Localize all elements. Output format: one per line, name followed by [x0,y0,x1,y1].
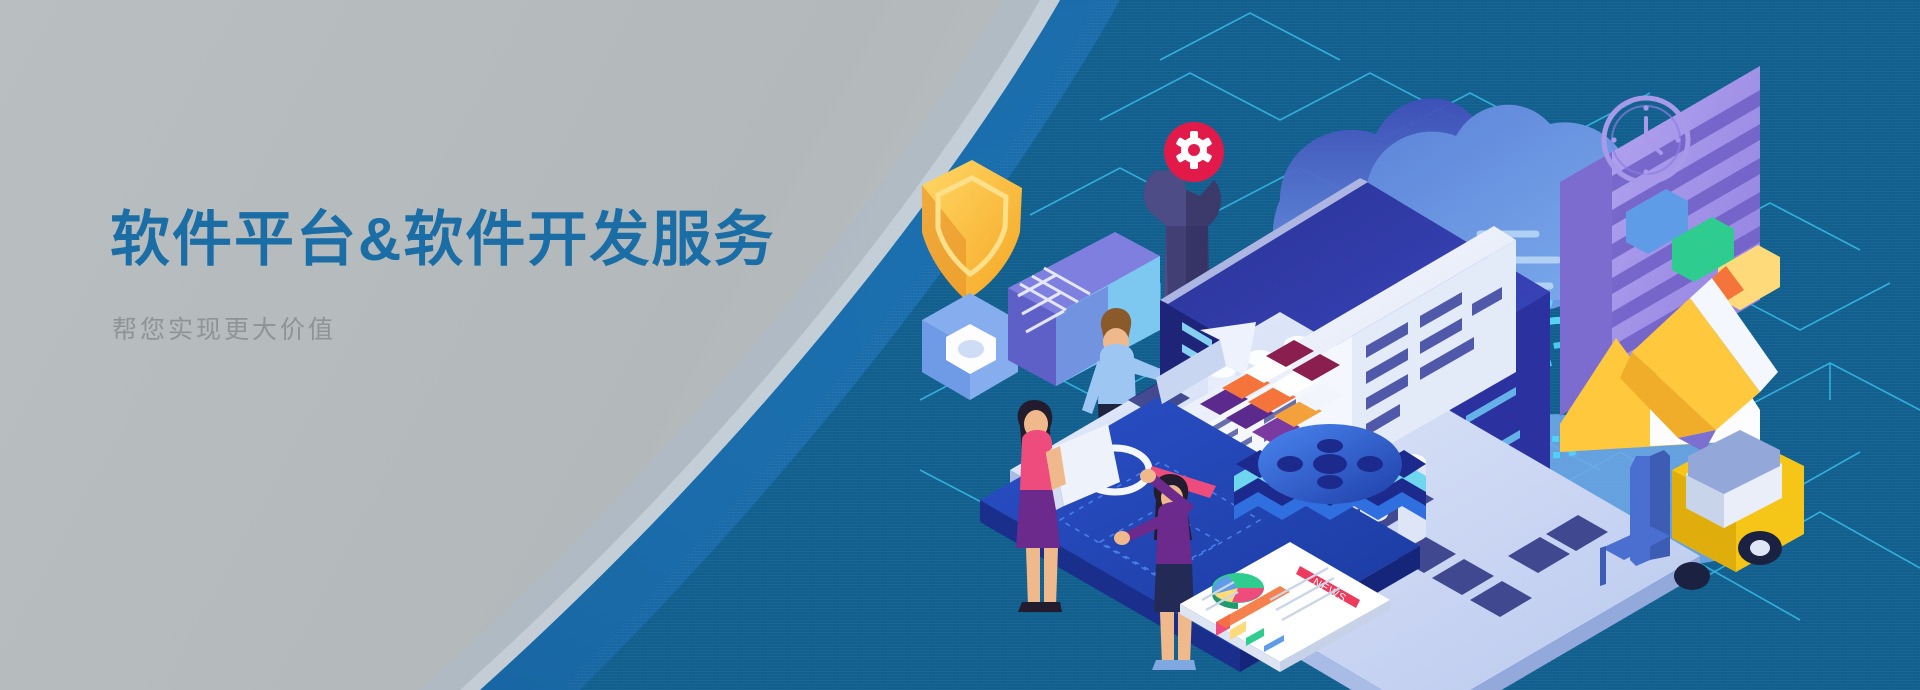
camera-icon [922,293,1018,400]
hero-illustration: NEWS [860,0,1920,690]
page-subtitle: 帮您实现更大价值 [112,310,870,346]
page-title: 软件平台&软件开发服务 [110,205,870,276]
gear-badge-icon [1164,122,1224,182]
shield-icon [922,160,1022,300]
banner-copy: 软件平台&软件开发服务 帮您实现更大价值 [110,205,870,346]
hero-banner: 软件平台&软件开发服务 帮您实现更大价值 [0,0,1920,690]
